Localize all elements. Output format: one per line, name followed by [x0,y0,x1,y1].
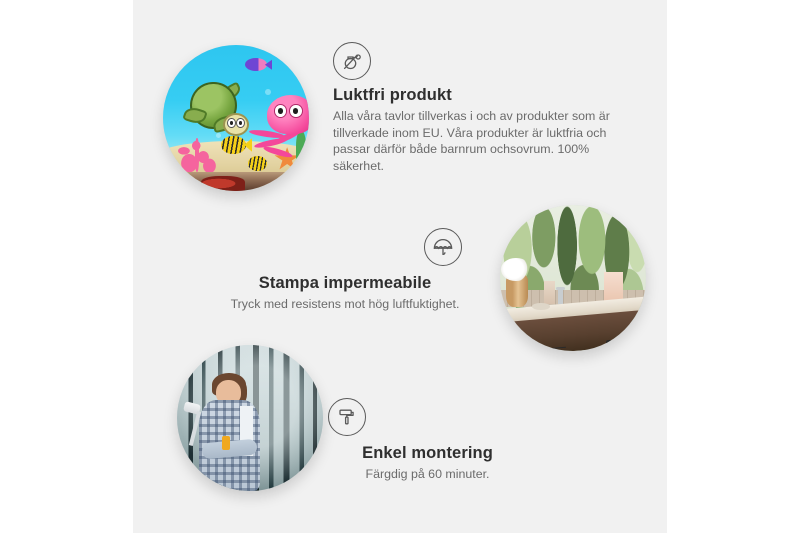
roller-grip [222,436,229,451]
drawer-handle [534,347,565,351]
feature-easy-install: Enkel montering Färgdig på 60 minuter. [305,398,550,483]
octopus-tentacle [263,145,293,159]
bathroom-leaf-wallpaper-photo [500,205,646,351]
promo-infographic: Luktfri produkt Alla våra tavlor tillver… [0,0,800,533]
feature-waterproof: Stampa impermeabile Tryck med resistens … [215,228,475,313]
feature-description: Tryck med resistens mot hög luftfuktighe… [215,296,475,313]
turtle-eye [236,118,245,128]
feature-description: Färgdig på 60 minuter. [305,466,550,483]
feature-description: Alla våra tavlor tillverkas i och av pro… [333,108,623,174]
umbrella-icon [424,228,462,266]
turtle-head [223,113,249,136]
octopus-icon [251,95,309,159]
turtle-icon [186,82,250,137]
feature-title: Enkel montering [305,444,550,463]
feature-title: Luktfri produkt [333,86,623,105]
cabinet-handle [606,340,612,346]
no-fragrance-icon [333,42,371,80]
paint-roller-icon [328,398,366,436]
underwater-cartoon-photo [163,45,309,191]
turtle-eye [227,118,236,128]
feature-odourless: Luktfri produkt Alla våra tavlor tillver… [333,42,623,174]
feature-title: Stampa impermeabile [215,274,475,293]
woman-roller-forest-photo [177,345,323,491]
sea-floor [163,172,309,191]
soap-dish [532,303,550,310]
icon-container [305,398,550,436]
purple-fish-icon [245,58,267,71]
faucet-icon [558,287,562,305]
white-flowers [501,258,530,281]
octopus-eye [289,104,302,118]
icon-container [215,228,475,266]
decor-pillar [544,281,556,304]
octopus-eye [274,104,287,118]
octopus-head [267,95,309,135]
